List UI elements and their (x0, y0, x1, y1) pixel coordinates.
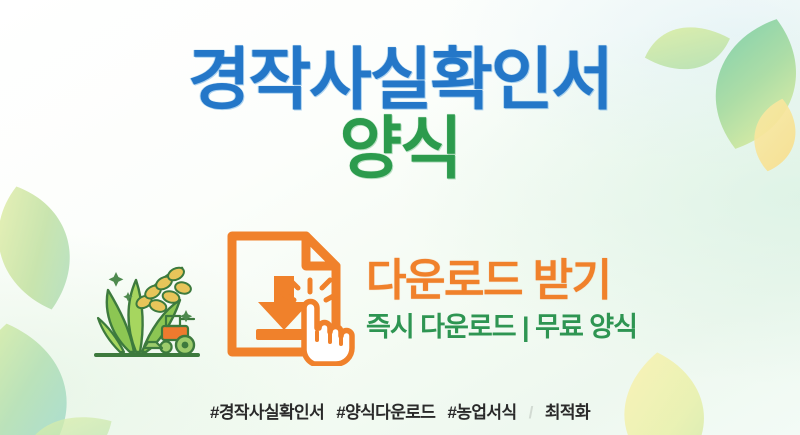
headline-line-2: 양식 (0, 117, 800, 182)
hashtag-item-2[interactable]: #양식다운로드 (336, 403, 435, 422)
document-download-icon[interactable] (218, 224, 364, 366)
cta-sub-label: 즉시 다운로드 | 무료 양식 (366, 313, 637, 343)
hashtag-separator: / (529, 403, 533, 422)
promo-banner: 경작사실확인서 양식 (0, 0, 800, 435)
headline-line-1: 경작사실확인서 (0, 48, 800, 113)
rice-plant-tractor-icon (86, 252, 208, 364)
cta-text-block[interactable]: 다운로드 받기 즉시 다운로드 | 무료 양식 (366, 258, 637, 342)
hashtag-item-3[interactable]: #농업서식 (447, 403, 516, 422)
hashtag-footer: #경작사실확인서 #양식다운로드 #농업서식 / 최적화 (0, 398, 800, 423)
hashtag-item-1[interactable]: #경작사실확인서 (210, 403, 324, 422)
hashtag-item-4[interactable]: 최적화 (545, 403, 590, 422)
cta-main-label: 다운로드 받기 (366, 258, 637, 305)
banner-headline: 경작사실확인서 양식 (0, 48, 800, 183)
hashtag-list: #경작사실확인서 #양식다운로드 #농업서식 / 최적화 (210, 398, 590, 423)
